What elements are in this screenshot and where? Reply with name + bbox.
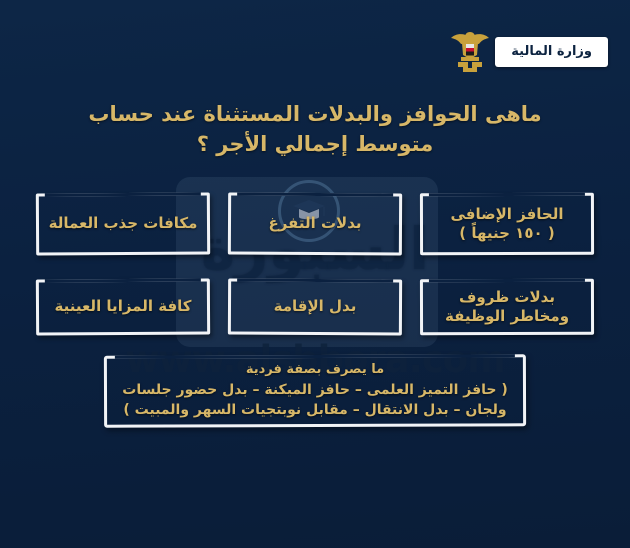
title-line-2: متوسط إجمالي الأجر ؟ <box>60 130 570 160</box>
ministry-name-plate: وزارة المالية <box>495 37 608 67</box>
title-line-1: ماهى الحوافز والبدلات المستثناة عند حساب <box>88 102 541 126</box>
item-box-accommodation-allowance[interactable]: بدل الإقامة <box>228 279 402 335</box>
item-label: بدلات ظروف ومخاطر الوظيفة <box>420 288 594 327</box>
page-title: ماهى الحوافز والبدلات المستثناة عند حساب… <box>0 100 630 160</box>
item-label: الحافز الإضافى( ١٥٠ جنيهاً ) <box>442 205 571 244</box>
bottom-line-3: ولجان – بدل الانتقال – مقابل نوبتجيات ال… <box>122 400 507 420</box>
bottom-line-1: ما يصرف بصفة فردية <box>122 361 507 380</box>
item-box-job-risk-allowances[interactable]: بدلات ظروف ومخاطر الوظيفة <box>420 279 594 335</box>
excluded-items-row-1: مكافات جذب العمالة بدلات التفرغ الحافز ا… <box>0 193 630 255</box>
bottom-line-2: ( حافز التميز العلمى – حافز الميكنة – بد… <box>122 380 507 400</box>
item-label: مكافات جذب العمالة <box>41 214 206 234</box>
item-box-individually-disbursed[interactable]: ما يصرف بصفة فردية ( حافز التميز العلمى … <box>104 355 526 427</box>
item-label: كافة المزايا العينية <box>47 297 200 317</box>
bottom-box-text: ما يصرف بصفة فردية ( حافز التميز العلمى … <box>112 361 517 420</box>
infographic-poster: وزارة المالية <box>0 0 630 548</box>
item-box-additional-incentive[interactable]: الحافز الإضافى( ١٥٠ جنيهاً ) <box>420 193 594 255</box>
item-box-full-time-allowances[interactable]: بدلات التفرغ <box>228 193 402 255</box>
egypt-eagle-emblem-icon <box>449 28 491 76</box>
ministry-label: وزارة المالية <box>511 44 592 59</box>
ministry-logo: وزارة المالية <box>449 28 608 76</box>
item-box-labor-attraction-bonuses[interactable]: مكافات جذب العمالة <box>36 193 210 255</box>
item-label: بدلات التفرغ <box>260 214 369 234</box>
excluded-items-row-2: كافة المزايا العينية بدل الإقامة بدلات ظ… <box>0 279 630 335</box>
item-box-in-kind-benefits[interactable]: كافة المزايا العينية <box>36 279 210 335</box>
item-label: بدل الإقامة <box>266 297 365 317</box>
